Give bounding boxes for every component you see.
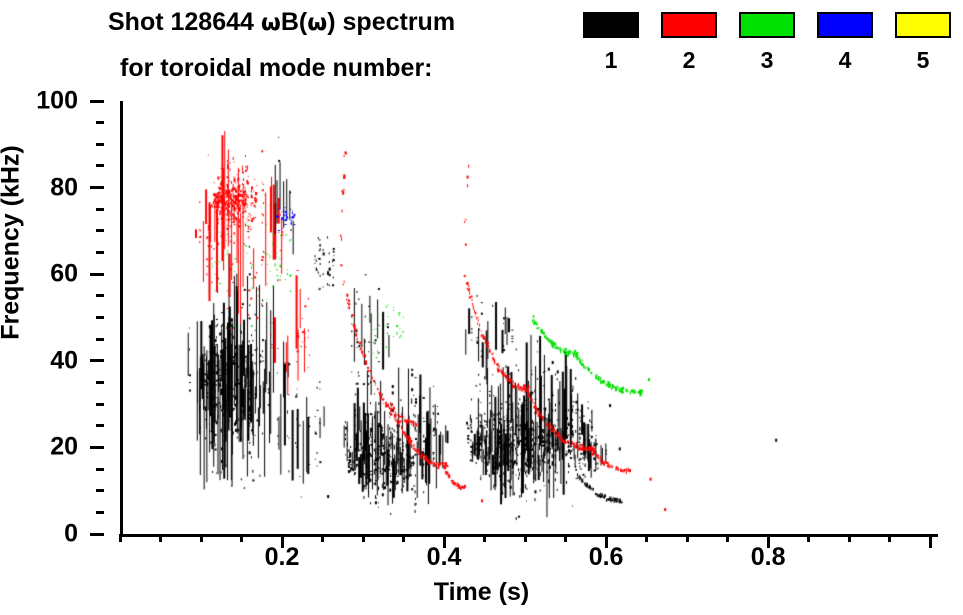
y-tick-label: 80	[50, 173, 78, 202]
title-b-text: B(	[281, 8, 307, 36]
x-axis-title: Time (s)	[0, 578, 963, 607]
legend-label-3: 3	[761, 49, 774, 72]
figure-title-line-2: for toroidal mode number:	[120, 54, 433, 83]
omega-symbol-1: ω	[261, 10, 281, 36]
legend-label-5: 5	[917, 49, 930, 72]
y-tick	[96, 208, 104, 211]
y-tick	[96, 164, 104, 167]
legend-label-2: 2	[683, 49, 696, 72]
legend: 12345	[583, 12, 951, 72]
y-tick	[96, 338, 104, 341]
legend-swatch-2	[661, 12, 717, 38]
spectrogram-canvas	[123, 101, 938, 534]
y-axis-title: Frequency (kHz)	[0, 113, 26, 373]
y-tick-label: 20	[50, 433, 78, 462]
legend-label-4: 4	[839, 49, 852, 72]
legend-entry-3: 3	[739, 12, 795, 72]
y-tick	[90, 446, 104, 449]
legend-swatch-1	[583, 12, 639, 38]
y-tick	[90, 533, 104, 536]
y-tick	[96, 511, 104, 514]
title-shot-text: Shot 128644	[108, 8, 261, 36]
omega-symbol-2: ω	[307, 10, 327, 36]
legend-label-1: 1	[605, 49, 618, 72]
y-tick	[96, 143, 104, 146]
y-tick	[96, 489, 104, 492]
legend-entry-5: 5	[895, 12, 951, 72]
y-tick	[96, 121, 104, 124]
y-tick	[90, 359, 104, 362]
y-tick	[90, 273, 104, 276]
y-tick	[90, 186, 104, 189]
legend-entry-4: 4	[817, 12, 873, 72]
y-tick-label: 40	[50, 346, 78, 375]
legend-swatch-4	[817, 12, 873, 38]
plot-frame	[120, 101, 938, 537]
y-tick	[96, 251, 104, 254]
legend-swatch-3	[739, 12, 795, 38]
y-tick	[96, 468, 104, 471]
y-tick-label: 0	[64, 520, 78, 549]
title-spectrum-text: ) spectrum	[327, 8, 455, 36]
legend-swatch-5	[895, 12, 951, 38]
legend-entry-1: 1	[583, 12, 639, 72]
y-tick	[90, 100, 104, 103]
legend-entry-2: 2	[661, 12, 717, 72]
y-tick	[96, 316, 104, 319]
spectrogram-figure: Shot 128644 ωB(ω) spectrum for toroidal …	[0, 0, 963, 615]
y-tick	[96, 294, 104, 297]
y-tick-label: 60	[50, 260, 78, 289]
y-tick-label: 100	[36, 87, 78, 116]
y-tick	[96, 403, 104, 406]
figure-title-line-1: Shot 128644 ωB(ω) spectrum	[108, 8, 455, 37]
y-tick	[96, 229, 104, 232]
y-tick	[96, 381, 104, 384]
y-tick	[96, 424, 104, 427]
